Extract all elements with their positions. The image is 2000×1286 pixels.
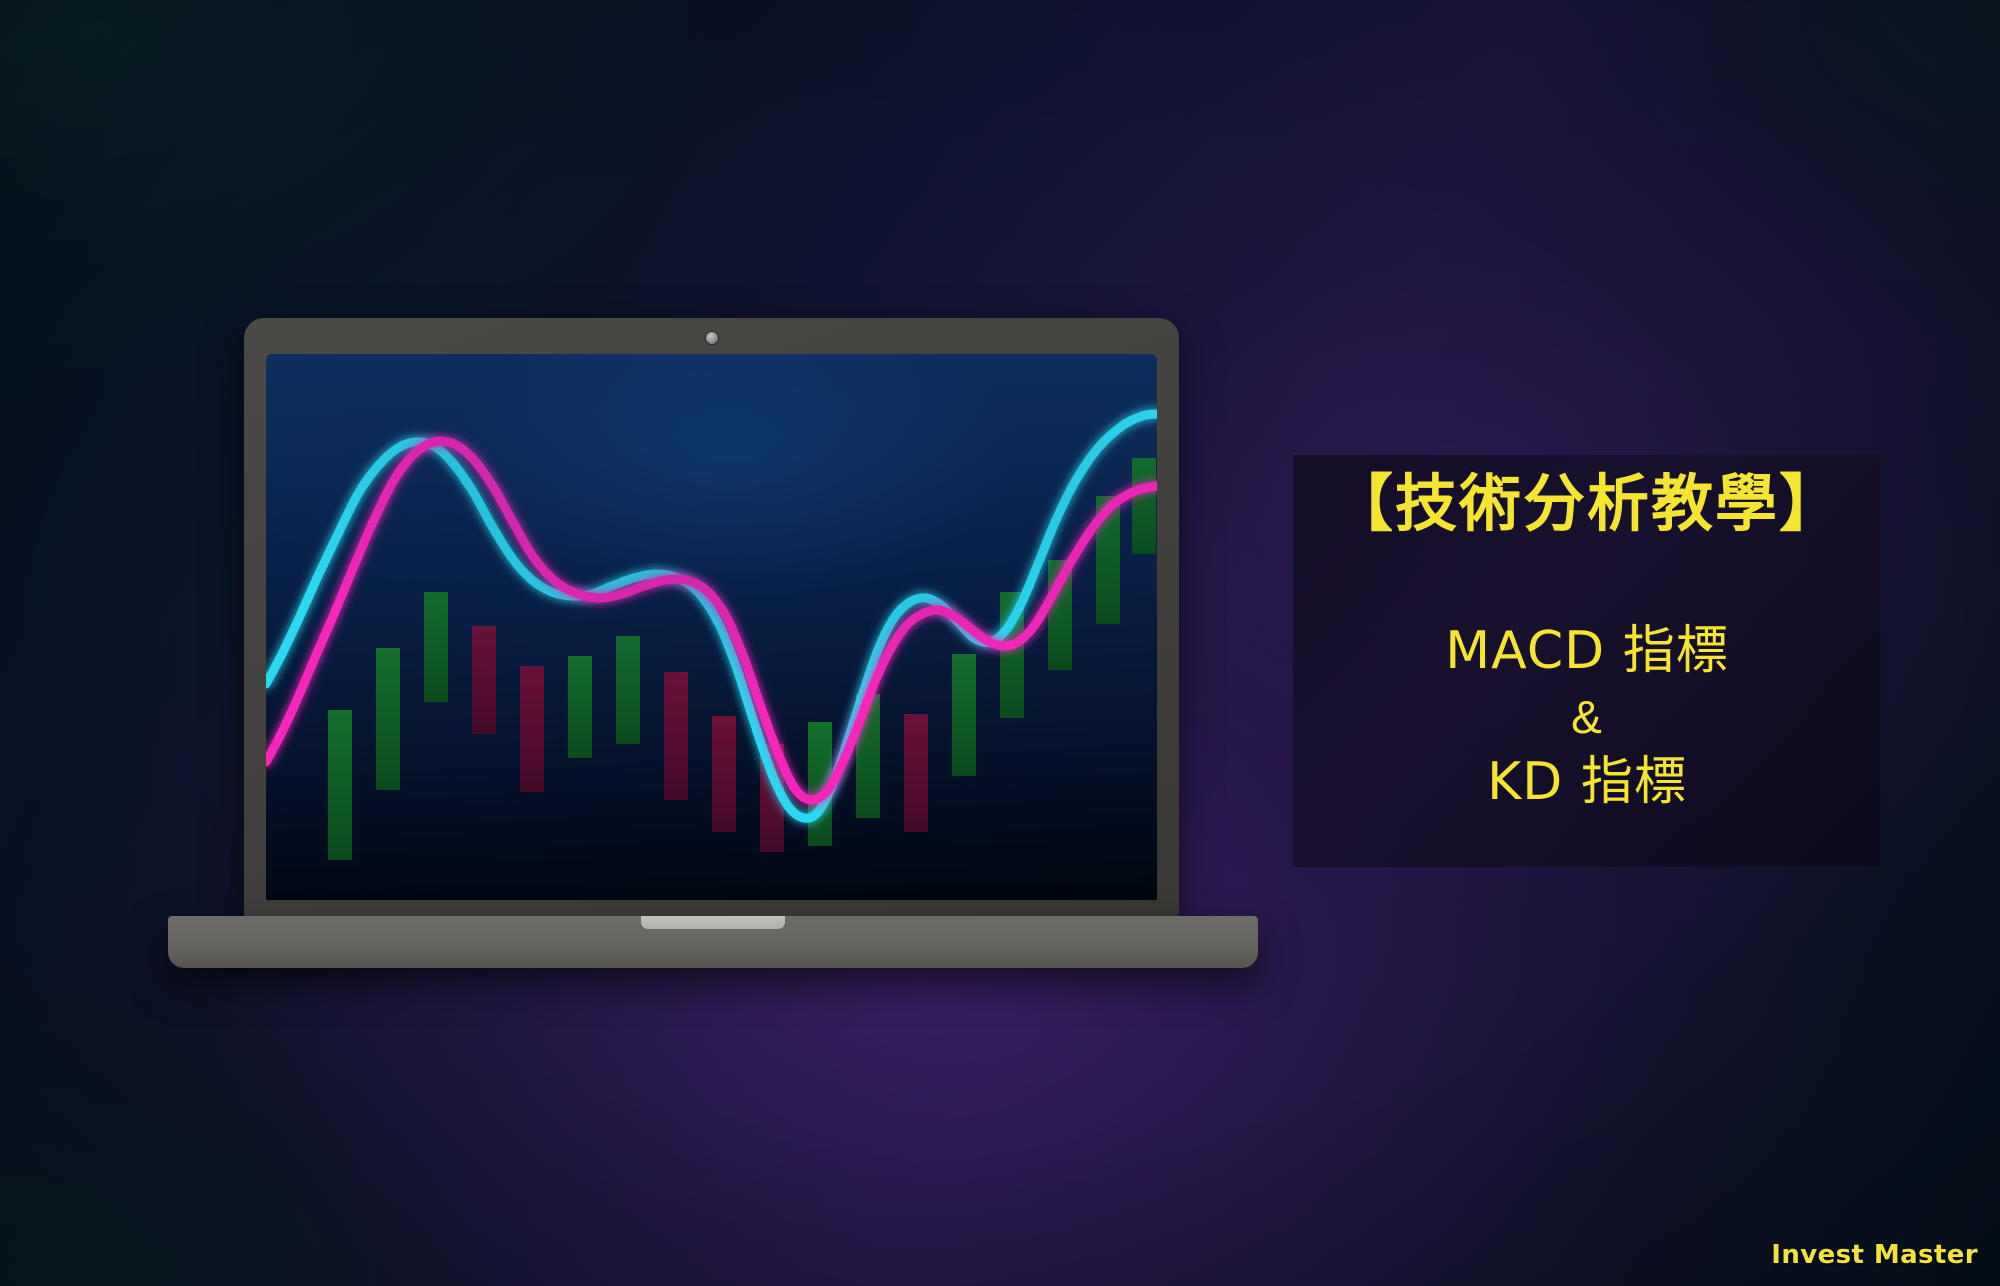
candlestick-bar (424, 592, 448, 702)
subtitle-macd: MACD 指標 (1293, 615, 1881, 689)
candlestick-bar (328, 710, 352, 860)
trackpad-notch (641, 916, 785, 929)
candlestick-bar (712, 716, 736, 832)
candlestick-bar (376, 648, 400, 790)
candlestick-bar (664, 672, 688, 800)
laptop-lid (244, 318, 1179, 918)
candlestick-bar (520, 666, 544, 792)
webcam-icon (706, 332, 718, 344)
laptop-base (168, 916, 1258, 968)
laptop-mockup (168, 318, 1258, 978)
candlestick-bar (1132, 458, 1156, 554)
candlestick-bar (472, 626, 496, 734)
subtitle-kd: KD 指標 (1293, 746, 1881, 820)
poster-canvas: 【技術分析教學】 MACD 指標 & KD 指標 Invest Master (0, 0, 2000, 1286)
candlestick-bar (904, 714, 928, 832)
laptop-screen (266, 354, 1157, 900)
subtitle-group: MACD 指標 & KD 指標 (1293, 615, 1881, 820)
title-panel: 【技術分析教學】 MACD 指標 & KD 指標 (1293, 455, 1881, 867)
candlestick-bar (568, 656, 592, 758)
watermark-brand: Invest Master (1771, 1240, 1978, 1270)
trading-chart (266, 354, 1157, 900)
subtitle-ampersand: & (1293, 689, 1881, 746)
candlestick-bar (952, 654, 976, 776)
page-title: 【技術分析教學】 (1293, 465, 1881, 543)
candlestick-bar (616, 636, 640, 744)
